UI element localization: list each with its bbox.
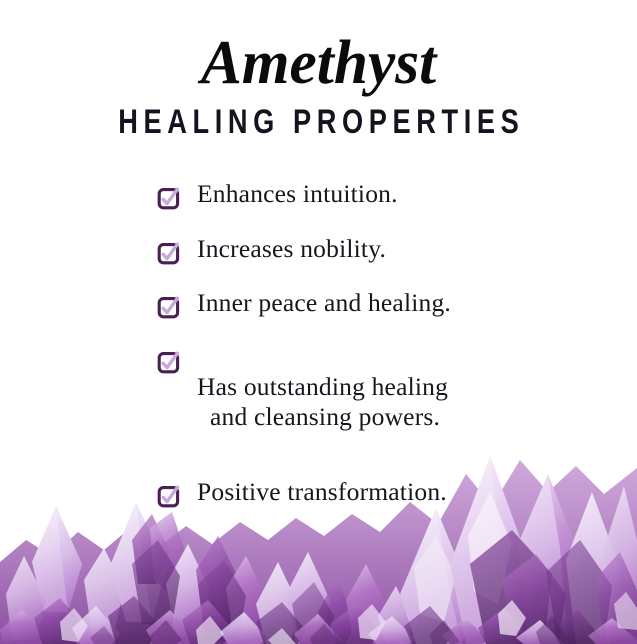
list-item-label: Increases nobility. — [197, 233, 386, 266]
checkbox-checked-icon — [157, 351, 180, 374]
list-item-label: Inner peace and healing. — [197, 287, 451, 320]
poster-canvas: Amethyst HEALING PROPERTIES Enhances int… — [0, 0, 637, 644]
list-item-label: Positive transformation. — [197, 476, 447, 509]
page-title: Amethyst — [3, 0, 634, 94]
list-item-label: Has outstanding healing and cleansing po… — [197, 342, 448, 462]
list-item-label: Enhances intuition. — [197, 178, 398, 211]
list-item: Enhances intuition. — [0, 178, 637, 211]
properties-list: Enhances intuition. Increases nobility. … — [0, 178, 637, 531]
poster-header: Amethyst HEALING PROPERTIES — [0, 0, 637, 139]
list-item-label-line1: Has outstanding healing — [197, 372, 448, 401]
list-item: Positive transformation. — [0, 476, 637, 509]
checkbox-checked-icon — [157, 187, 180, 210]
checkbox-checked-icon — [157, 296, 180, 319]
page-subtitle: HEALING PROPERTIES — [64, 94, 574, 139]
checkbox-checked-icon — [157, 485, 180, 508]
checkbox-checked-icon — [157, 242, 180, 265]
list-item-label-line2: and cleansing powers. — [197, 402, 448, 432]
list-item: Inner peace and healing. — [0, 287, 637, 320]
list-item: Increases nobility. — [0, 233, 637, 266]
list-item: Has outstanding healing and cleansing po… — [0, 342, 637, 462]
